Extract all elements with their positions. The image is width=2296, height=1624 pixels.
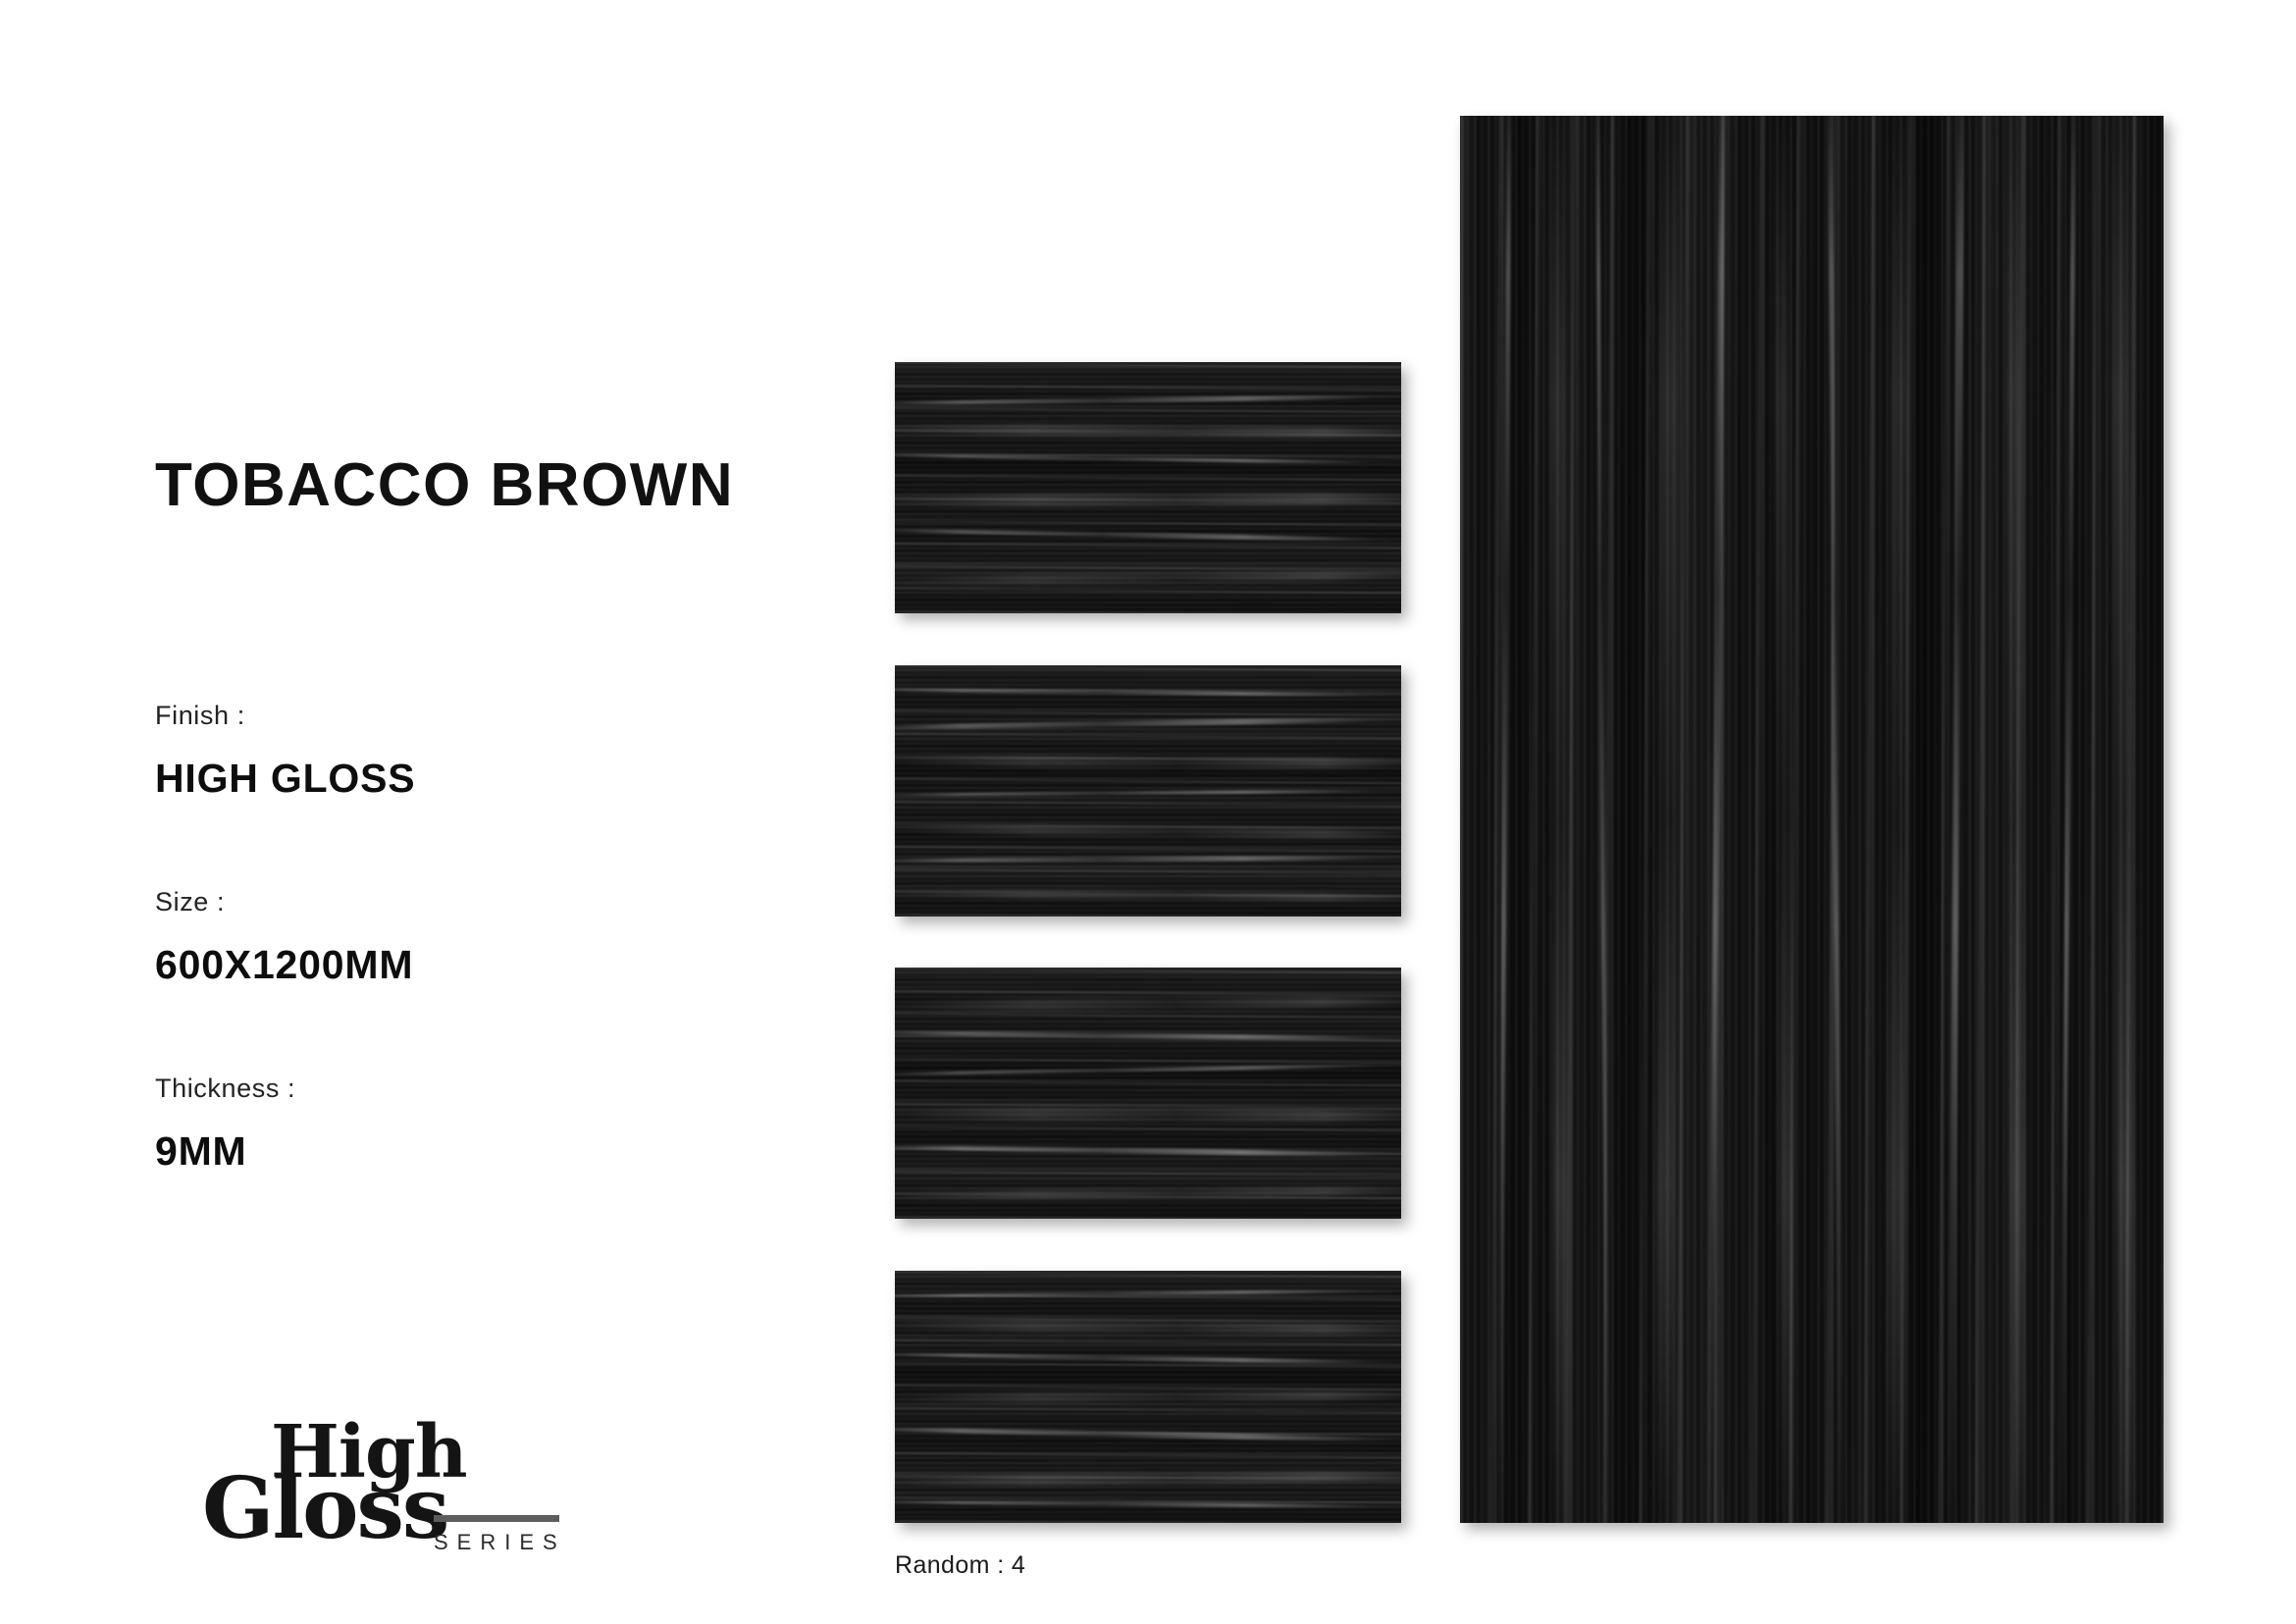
spec-value-finish: HIGH GLOSS (155, 759, 803, 799)
product-info-panel: TOBACCO BROWN Finish : HIGH GLOSS Size :… (155, 0, 842, 1624)
spec-label-finish: Finish : (155, 703, 803, 729)
tile-strip-2 (895, 665, 1401, 917)
logo-divider-rule (434, 1515, 559, 1522)
high-gloss-series-logo: High Gloss (145, 1416, 557, 1583)
spec-value-size: 600X1200MM (155, 945, 803, 985)
spec-label-size: Size : (155, 889, 803, 916)
logo-word-gloss: Gloss (202, 1467, 447, 1551)
page-title: TOBACCO BROWN (155, 455, 734, 516)
tile-strip-3 (895, 968, 1401, 1219)
random-faces-caption: Random : 4 (895, 1553, 1025, 1578)
spec-group-size: Size : 600X1200MM (155, 889, 803, 985)
spec-value-thickness: 9MM (155, 1131, 803, 1172)
tile-hero (1460, 116, 2164, 1523)
spec-label-thickness: Thickness : (155, 1075, 803, 1102)
tile-strip-1 (895, 362, 1401, 613)
spec-group-finish: Finish : HIGH GLOSS (155, 703, 803, 799)
spec-group-thickness: Thickness : 9MM (155, 1075, 803, 1172)
logo-series-label: SERIES (434, 1532, 566, 1553)
tile-strip-4 (895, 1271, 1401, 1523)
spec-sheet-page: TOBACCO BROWN Finish : HIGH GLOSS Size :… (0, 0, 2296, 1624)
